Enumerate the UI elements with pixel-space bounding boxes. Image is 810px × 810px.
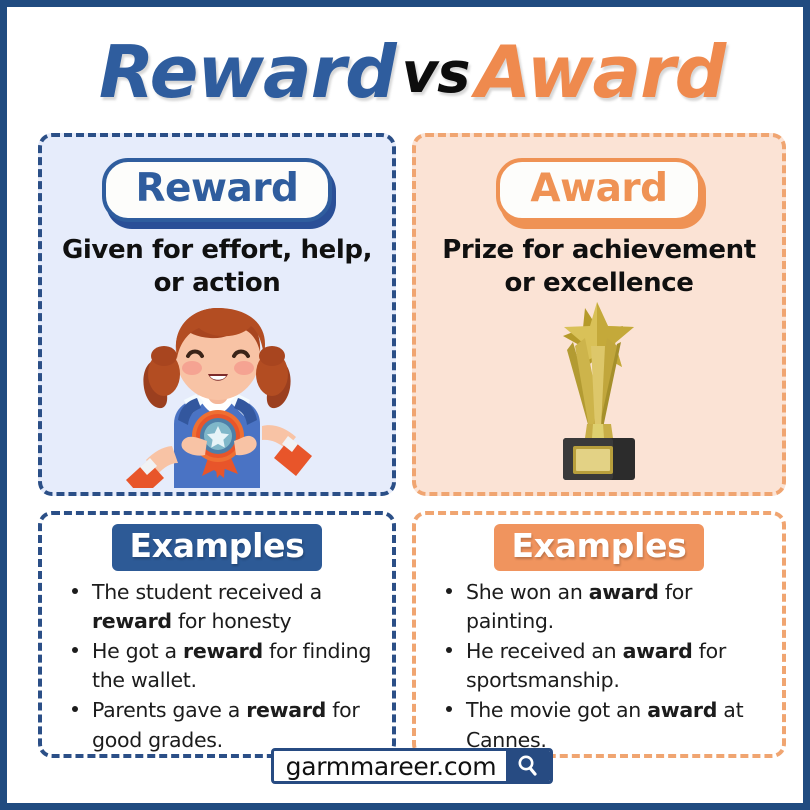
award-heading-pill: Award — [496, 158, 701, 222]
keyword: award — [589, 580, 659, 604]
text-fragment: Parents gave a — [92, 698, 246, 722]
list-item: He got a reward for finding the wallet. — [68, 637, 380, 695]
reward-examples-card: Examples The student received a reward f… — [38, 511, 396, 758]
reward-examples-list: The student received a reward for honest… — [68, 578, 380, 756]
text-fragment: She won an — [466, 580, 589, 604]
page-title: RewardvsAward — [14, 36, 810, 108]
text-fragment: He got a — [92, 639, 183, 663]
title-word-award: Award — [476, 36, 726, 108]
keyword: award — [647, 698, 717, 722]
reward-definition-card: Reward Given for effort, help, or action — [38, 133, 396, 496]
reward-examples-badge-wrap: Examples — [42, 524, 392, 571]
footer: garmmareer.com — [14, 748, 810, 784]
award-examples-list: She won an award for painting.He receive… — [442, 578, 770, 756]
page-body: RewardvsAward Reward Given for effort, h… — [14, 14, 796, 796]
gold-star-trophy-illustration — [416, 298, 782, 488]
keyword: reward — [183, 639, 263, 663]
list-item: The student received a reward for honest… — [68, 578, 380, 636]
list-item: She won an award for painting. — [442, 578, 770, 636]
keyword: reward — [246, 698, 326, 722]
girl-receiving-ribbon-illustration — [42, 298, 392, 488]
reward-heading-wrap: Reward — [42, 158, 392, 222]
list-item: The movie got an award at Cannes. — [442, 696, 770, 754]
reward-definition-text: Given for effort, help, or action — [56, 234, 378, 301]
keyword: reward — [92, 609, 172, 633]
site-search-bar[interactable]: garmmareer.com — [271, 748, 554, 784]
site-name: garmmareer.com — [274, 751, 507, 781]
award-examples-card: Examples She won an award for painting.H… — [412, 511, 786, 758]
keyword: award — [623, 639, 693, 663]
award-definition-card: Award Prize for achievement or excellenc… — [412, 133, 786, 496]
award-examples-badge: Examples — [494, 524, 703, 571]
page-frame: RewardvsAward Reward Given for effort, h… — [0, 0, 810, 810]
reward-heading-pill: Reward — [102, 158, 333, 222]
text-fragment: The student received a — [92, 580, 322, 604]
text-fragment: for honesty — [172, 609, 292, 633]
list-item: He received an award for sportsmanship. — [442, 637, 770, 695]
award-heading-wrap: Award — [416, 158, 782, 222]
search-icon[interactable] — [506, 751, 550, 781]
reward-examples-badge: Examples — [112, 524, 321, 571]
text-fragment: The movie got an — [466, 698, 647, 722]
award-definition-text: Prize for achievement or excellence — [430, 234, 768, 301]
text-fragment: He received an — [466, 639, 623, 663]
title-word-reward: Reward — [99, 36, 396, 108]
title-word-vs: vs — [402, 46, 470, 102]
list-item: Parents gave a reward for good grades. — [68, 696, 380, 754]
award-examples-badge-wrap: Examples — [416, 524, 782, 571]
